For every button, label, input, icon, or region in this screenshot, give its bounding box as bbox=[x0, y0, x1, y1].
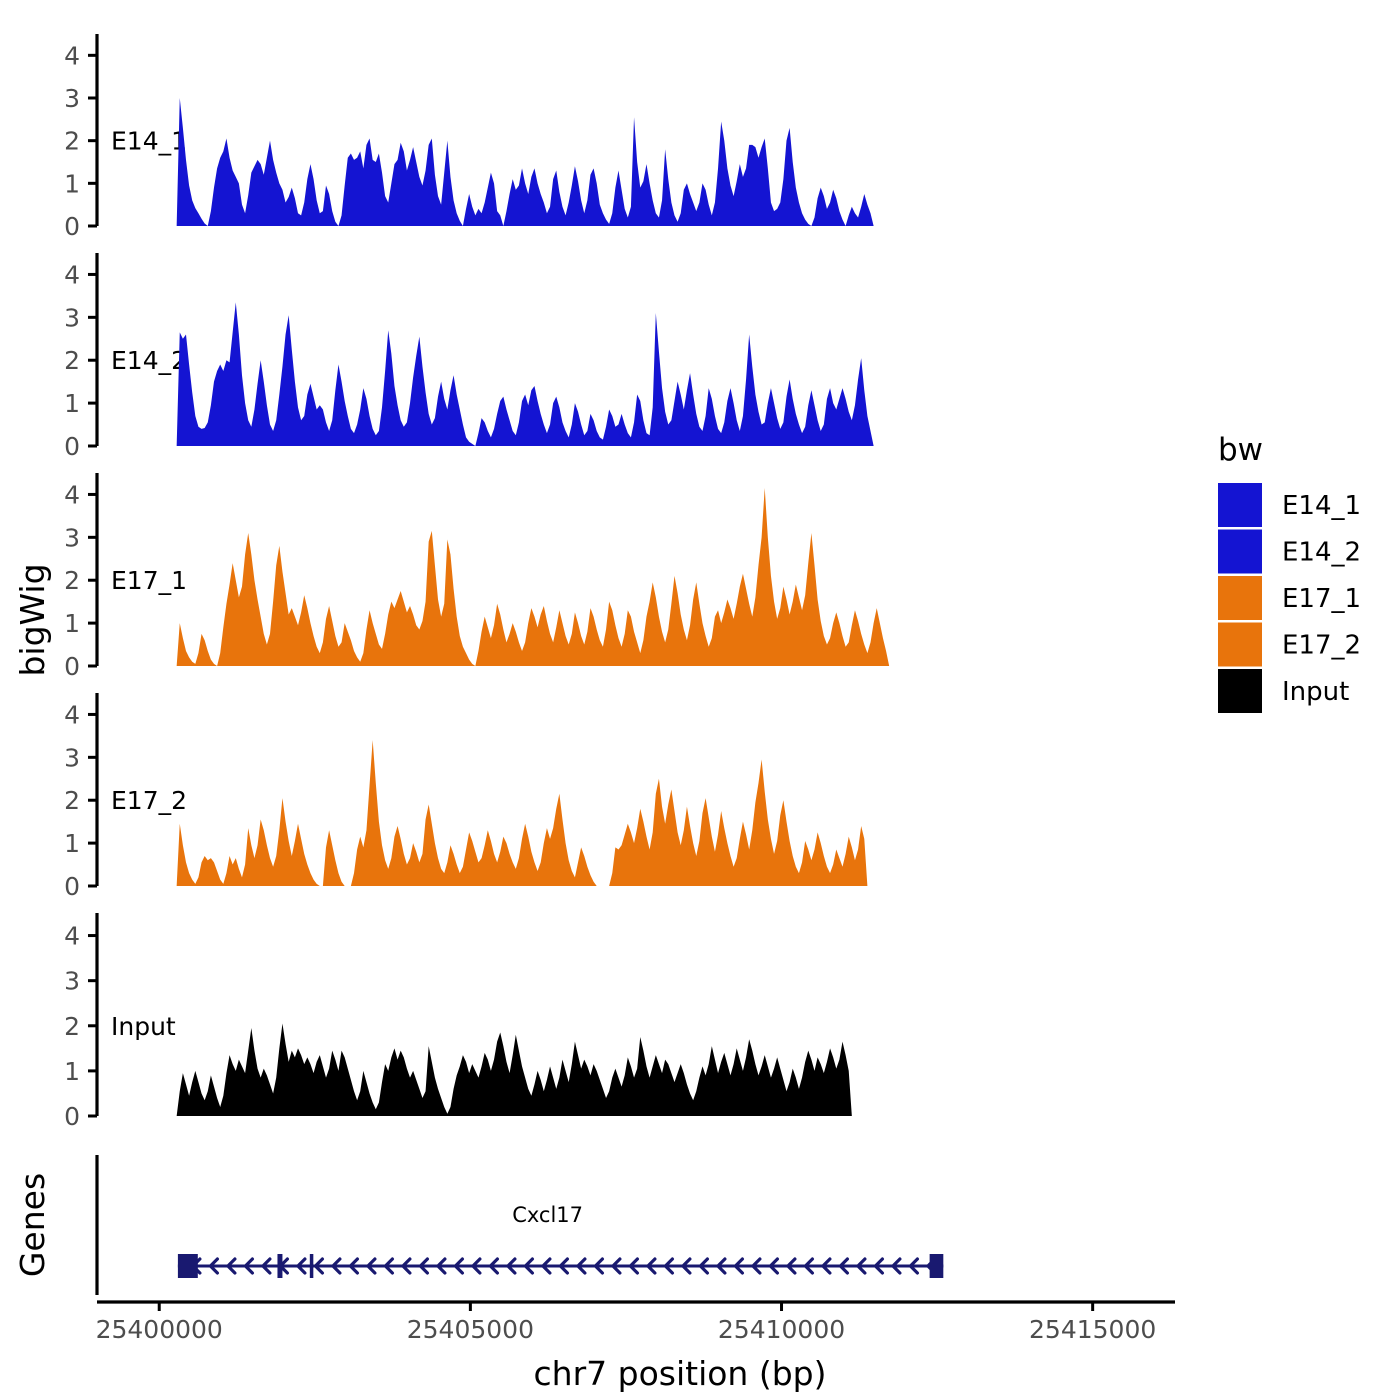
x-axis-title: chr7 position (bp) bbox=[534, 1354, 827, 1393]
x-tick-label: 25405000 bbox=[407, 1315, 534, 1344]
y-tick-label: 3 bbox=[64, 303, 80, 332]
gene-exon bbox=[277, 1254, 282, 1278]
y-tick-label: 2 bbox=[64, 1012, 80, 1041]
y-tick-label: 0 bbox=[64, 872, 80, 901]
y-tick-label: 3 bbox=[64, 743, 80, 772]
panel-label-input: Input bbox=[111, 1012, 176, 1041]
gene-exon bbox=[310, 1254, 314, 1278]
y-tick-label: 1 bbox=[64, 829, 80, 858]
legend-label-e17_2[interactable]: E17_2 bbox=[1282, 631, 1361, 661]
legend-label-e17_1[interactable]: E17_1 bbox=[1282, 584, 1361, 614]
legend-swatch-e17_1[interactable] bbox=[1218, 576, 1262, 620]
y-tick-label: 2 bbox=[64, 346, 80, 375]
legend-swatch-input[interactable] bbox=[1218, 669, 1262, 713]
legend-label-input[interactable]: Input bbox=[1282, 677, 1349, 707]
genes-axis-title: Genes bbox=[13, 1173, 52, 1277]
y-tick-label: 2 bbox=[64, 566, 80, 595]
x-tick-label: 25410000 bbox=[718, 1315, 845, 1344]
y-tick-label: 2 bbox=[64, 127, 80, 156]
y-axis-title: bigWig bbox=[13, 563, 52, 676]
panel-label-e14_2: E14_2 bbox=[111, 346, 187, 375]
y-tick-label: 1 bbox=[64, 169, 80, 198]
legend-title: bw bbox=[1218, 432, 1263, 468]
y-tick-label: 1 bbox=[64, 1057, 80, 1086]
panel-label-e17_2: E17_2 bbox=[111, 786, 187, 815]
legend-swatch-e14_2[interactable] bbox=[1218, 530, 1262, 574]
y-tick-label: 0 bbox=[64, 652, 80, 681]
genome-browser-figure: bigWig Genes chr7 position (bp) 01234E14… bbox=[0, 0, 1400, 1400]
y-tick-label: 4 bbox=[64, 700, 80, 729]
y-tick-label: 0 bbox=[64, 432, 80, 461]
panel-label-e14_1: E14_1 bbox=[111, 127, 187, 156]
legend-swatch-e14_1[interactable] bbox=[1218, 483, 1262, 527]
y-tick-label: 3 bbox=[64, 967, 80, 996]
y-tick-label: 2 bbox=[64, 786, 80, 815]
y-tick-label: 0 bbox=[64, 212, 80, 241]
legend-label-e14_2[interactable]: E14_2 bbox=[1282, 538, 1361, 568]
y-tick-label: 4 bbox=[64, 260, 80, 289]
y-tick-label: 4 bbox=[64, 922, 80, 951]
x-tick-label: 25415000 bbox=[1029, 1315, 1156, 1344]
legend-label-e14_1[interactable]: E14_1 bbox=[1282, 491, 1361, 521]
panel-label-e17_1: E17_1 bbox=[111, 566, 187, 595]
y-tick-label: 0 bbox=[64, 1102, 80, 1131]
y-tick-label: 1 bbox=[64, 609, 80, 638]
y-tick-label: 4 bbox=[64, 480, 80, 509]
gene-name-label: Cxcl17 bbox=[512, 1203, 583, 1227]
x-tick-label: 25400000 bbox=[96, 1315, 223, 1344]
legend-swatch-e17_2[interactable] bbox=[1218, 623, 1262, 667]
y-tick-label: 3 bbox=[64, 523, 80, 552]
y-tick-label: 1 bbox=[64, 389, 80, 418]
gene-exon bbox=[930, 1254, 944, 1278]
figure-root: bigWig Genes chr7 position (bp) 01234E14… bbox=[0, 0, 1400, 1400]
y-tick-label: 3 bbox=[64, 84, 80, 113]
y-tick-label: 4 bbox=[64, 41, 80, 70]
gene-exon bbox=[178, 1254, 198, 1278]
